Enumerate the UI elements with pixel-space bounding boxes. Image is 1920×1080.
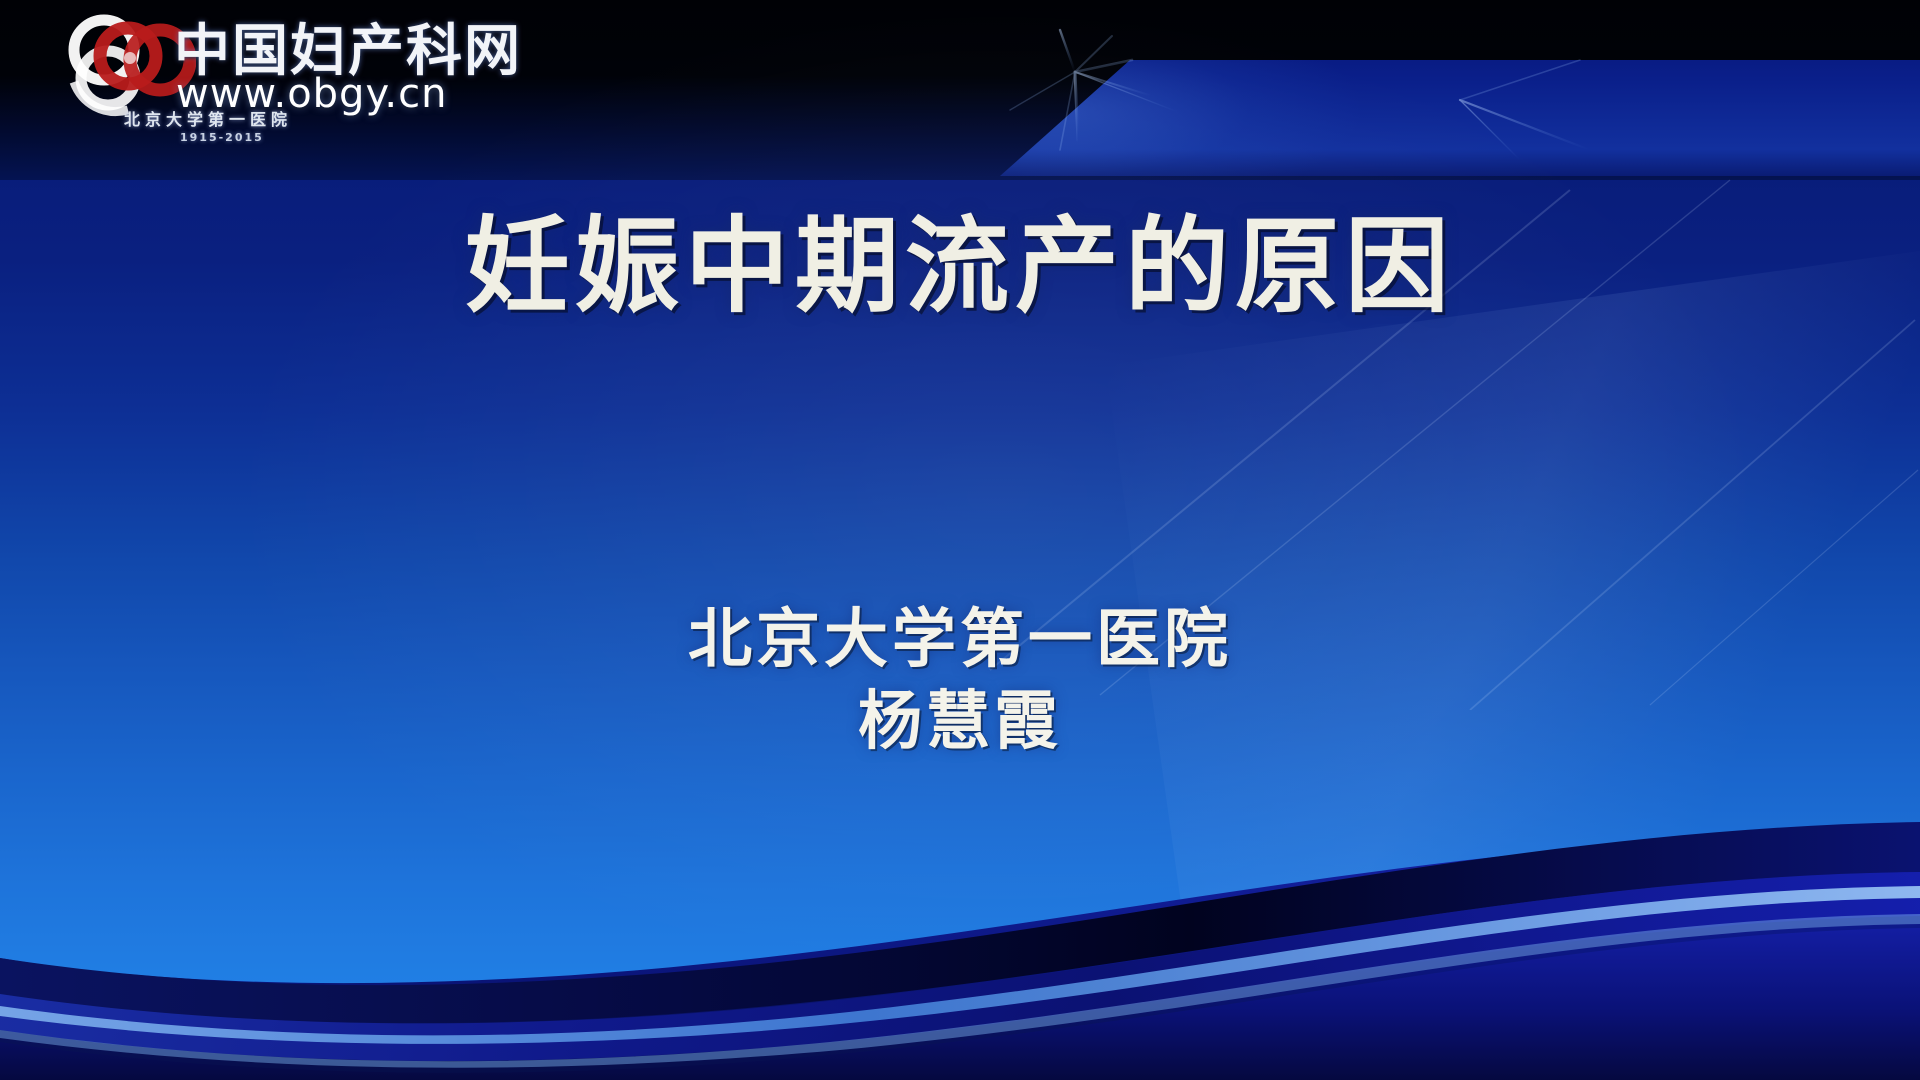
light-burst-rays [760,0,1660,190]
slide-title: 妊娠中期流产的原因 [0,208,1920,324]
slide-subtitle-block: 北京大学第一医院 杨慧霞 [0,600,1920,764]
watermark-hospital: 北京大学第一医院 [124,112,292,128]
site-watermark-logo: 中国妇产科网 www.obgy.cn 北京大学第一医院 1915-2015 [46,8,466,140]
watermark-years: 1915-2015 [180,132,264,143]
presenter-line: 杨慧霞 [0,682,1920,764]
watermark-url: www.obgy.cn [176,74,447,114]
presentation-slide: 中国妇产科网 www.obgy.cn 北京大学第一医院 1915-2015 妊娠… [0,0,1920,1080]
bottom-wave-decoration [0,780,1920,1080]
affiliation-line: 北京大学第一医院 [0,600,1920,682]
